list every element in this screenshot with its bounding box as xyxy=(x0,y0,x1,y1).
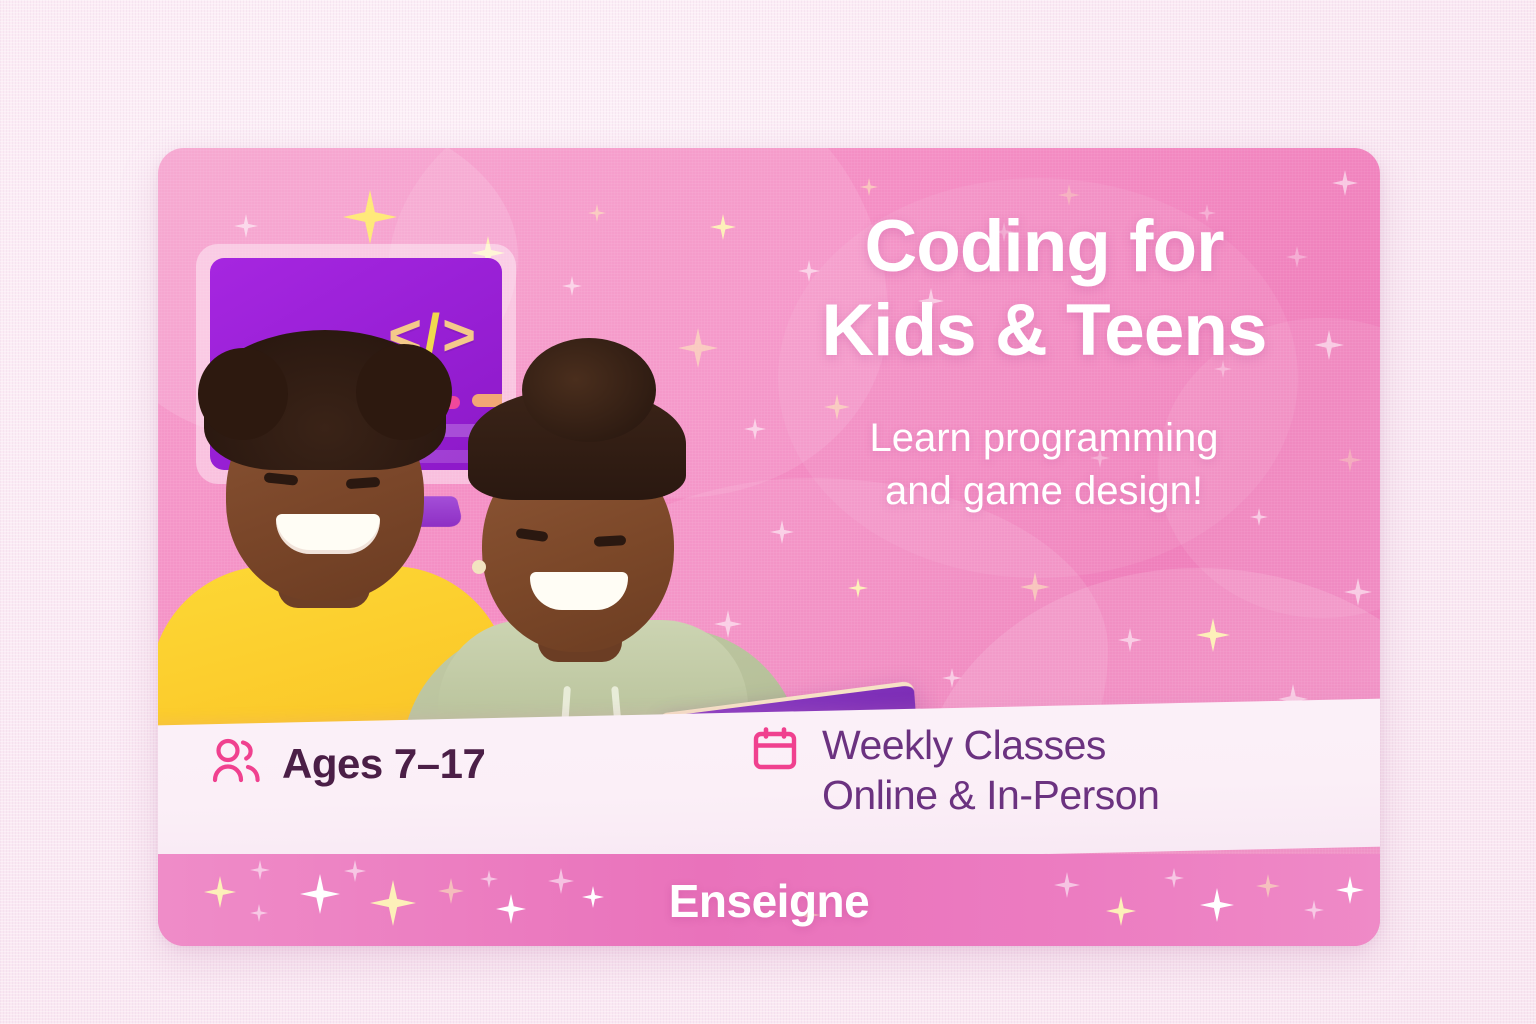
calendar-icon xyxy=(752,720,798,777)
sparkle-icon xyxy=(1118,628,1142,652)
headline-line-2: Kids & Teens xyxy=(764,294,1324,368)
classes-line-1: Weekly Classes xyxy=(822,722,1106,768)
sparkle-icon xyxy=(343,190,397,244)
subtitle-line-1: Learn programming xyxy=(869,416,1218,460)
brand-bar: Enseigne xyxy=(158,854,1380,946)
promo-card: </> xyxy=(158,148,1380,946)
ages-label: Ages 7–17 xyxy=(282,740,485,788)
page-subtitle: Learn programming and game design! xyxy=(764,412,1324,518)
classes-label: Weekly Classes Online & In-Person xyxy=(822,720,1159,820)
sparkle-icon xyxy=(1338,448,1362,472)
sparkle-icon xyxy=(1344,578,1372,606)
info-item-ages: Ages 7–17 xyxy=(212,738,485,789)
girl-eye-right xyxy=(594,535,626,547)
sparkle-icon xyxy=(942,668,962,688)
sparkle-icon xyxy=(234,214,258,238)
brand-name: Enseigne xyxy=(158,874,1380,928)
people-icon xyxy=(212,738,262,789)
girl-hair-bun xyxy=(522,338,656,442)
girl-earring xyxy=(472,560,486,574)
sparkle-icon xyxy=(588,204,606,222)
info-band: Ages 7–17 Weekly Classes Online & In-Per… xyxy=(158,712,1380,860)
classes-line-2: Online & In-Person xyxy=(822,772,1159,818)
sparkle-icon xyxy=(1332,170,1358,196)
page-title: Coding for Kids & Teens xyxy=(764,210,1324,369)
sparkle-icon xyxy=(1020,572,1050,602)
sparkle-icon xyxy=(710,214,736,240)
headline-line-1: Coding for xyxy=(865,206,1224,287)
girl-smile xyxy=(530,572,628,610)
info-item-classes: Weekly Classes Online & In-Person xyxy=(752,720,1159,820)
sparkle-icon xyxy=(860,178,878,196)
boy-smile xyxy=(276,514,380,554)
subtitle-line-2: and game design! xyxy=(885,469,1203,513)
sparkle-icon xyxy=(1196,618,1230,652)
sparkle-icon xyxy=(1058,184,1080,206)
